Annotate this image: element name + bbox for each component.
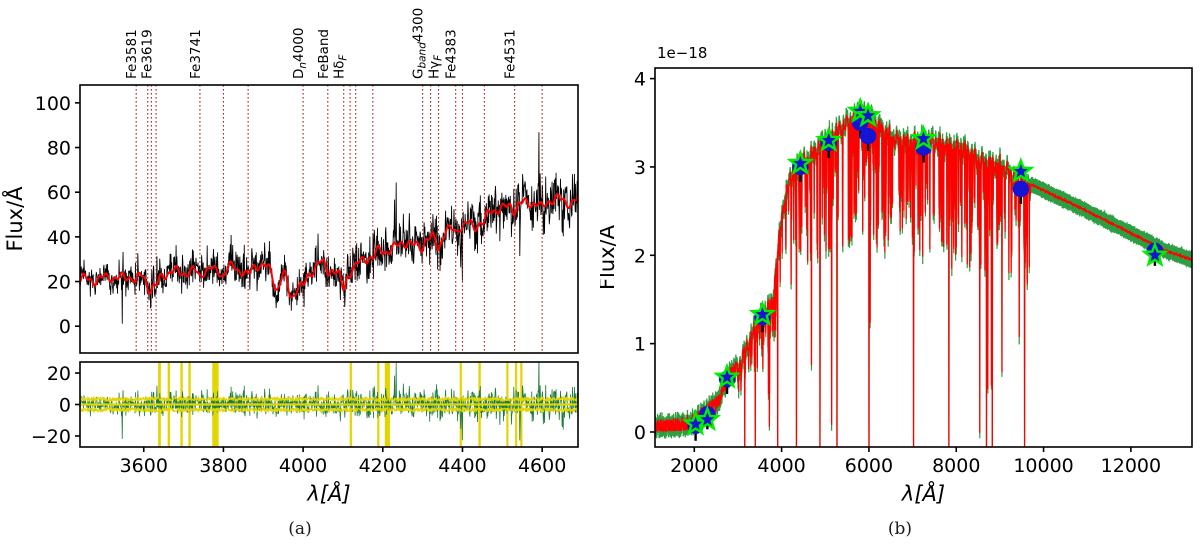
subcaption-a: (a) — [260, 519, 340, 539]
x-tick-label: 12000 — [1101, 455, 1161, 477]
plot-element — [80, 132, 578, 323]
plot-element: G — [411, 69, 427, 79]
x-tick-label: 4000 — [757, 455, 805, 477]
y-tick-label: 3 — [634, 157, 646, 179]
y-tick-label: 4 — [634, 69, 646, 91]
spectral-line-label: Fe3581 — [124, 29, 140, 79]
y-tick-label: 80 — [47, 138, 71, 160]
y-tick-label: 0 — [59, 316, 71, 338]
y-tick-label: 20 — [47, 363, 71, 385]
observed-spectrum-line — [80, 132, 578, 323]
x-tick-label: 8000 — [932, 455, 980, 477]
observed-photometry-point — [860, 128, 876, 144]
panel-a-spectral-fit: 020406080100−200203600380040004200440046… — [0, 0, 600, 510]
plot-element: 4300 — [411, 8, 427, 42]
spectral-line-label: Fe4383 — [444, 29, 460, 79]
y-tick-label: 0 — [59, 395, 71, 417]
spectral-line-label: Fe3619 — [139, 29, 155, 79]
figure-root: 020406080100−200203600380040004200440046… — [0, 0, 1200, 555]
x-tick-label: 4400 — [438, 455, 486, 477]
spectral-line-label: Fe4531 — [503, 29, 519, 79]
y-tick-label: 20 — [47, 272, 71, 294]
observed-photometry-point — [1013, 181, 1029, 197]
x-tick-label: 4000 — [279, 455, 327, 477]
plot-element: F — [338, 54, 350, 61]
spectral-line-label: HδF — [332, 54, 350, 79]
panel-b-ylabel: Flux/Å — [600, 224, 619, 290]
x-tick-label: 2000 — [670, 455, 718, 477]
x-tick-label: 6000 — [845, 455, 893, 477]
plot-element — [655, 98, 1192, 510]
plot-element — [80, 357, 578, 447]
y-tick-label: −20 — [31, 426, 71, 448]
panel-b-xlabel: λ[Å] — [901, 480, 945, 506]
y-tick-label: 60 — [47, 182, 71, 204]
panel-a-xlabel: λ[Å] — [306, 480, 350, 506]
panel-a-ylabel: Flux/Å — [1, 186, 27, 252]
plot-element: D — [291, 69, 307, 79]
spectral-line-label: HγF — [427, 54, 445, 79]
spectral-line-label: FeBand — [316, 29, 332, 79]
y-tick-label: 40 — [47, 227, 71, 249]
sed-model-line — [655, 107, 1192, 510]
plot-element: Hγ — [427, 61, 443, 79]
panel-b-axis-exponent: 1e−18 — [657, 44, 707, 62]
panel-a-svg: 020406080100−200203600380040004200440046… — [0, 0, 600, 510]
x-tick-label: 10000 — [1013, 455, 1073, 477]
panel-b-svg: 01234200040006000800010000120001e−18Flux… — [600, 0, 1200, 510]
y-tick-label: 100 — [35, 93, 71, 115]
plot-element: 4000 — [291, 28, 307, 62]
spectral-line-label: Dn4000 — [291, 28, 309, 79]
y-tick-label: 0 — [634, 422, 646, 444]
panel-b-sed-fit: 01234200040006000800010000120001e−18Flux… — [600, 0, 1200, 510]
spectral-line-label: Fe3741 — [188, 29, 204, 79]
x-tick-label: 4600 — [518, 455, 566, 477]
y-tick-label: 2 — [634, 245, 646, 267]
x-tick-label: 3800 — [199, 455, 247, 477]
plot-element: n — [297, 62, 309, 69]
x-tick-label: 3600 — [120, 455, 168, 477]
plot-element: Hδ — [332, 61, 348, 79]
y-tick-label: 1 — [634, 334, 646, 356]
subcaption-b: (b) — [860, 519, 940, 539]
x-tick-label: 4200 — [359, 455, 407, 477]
